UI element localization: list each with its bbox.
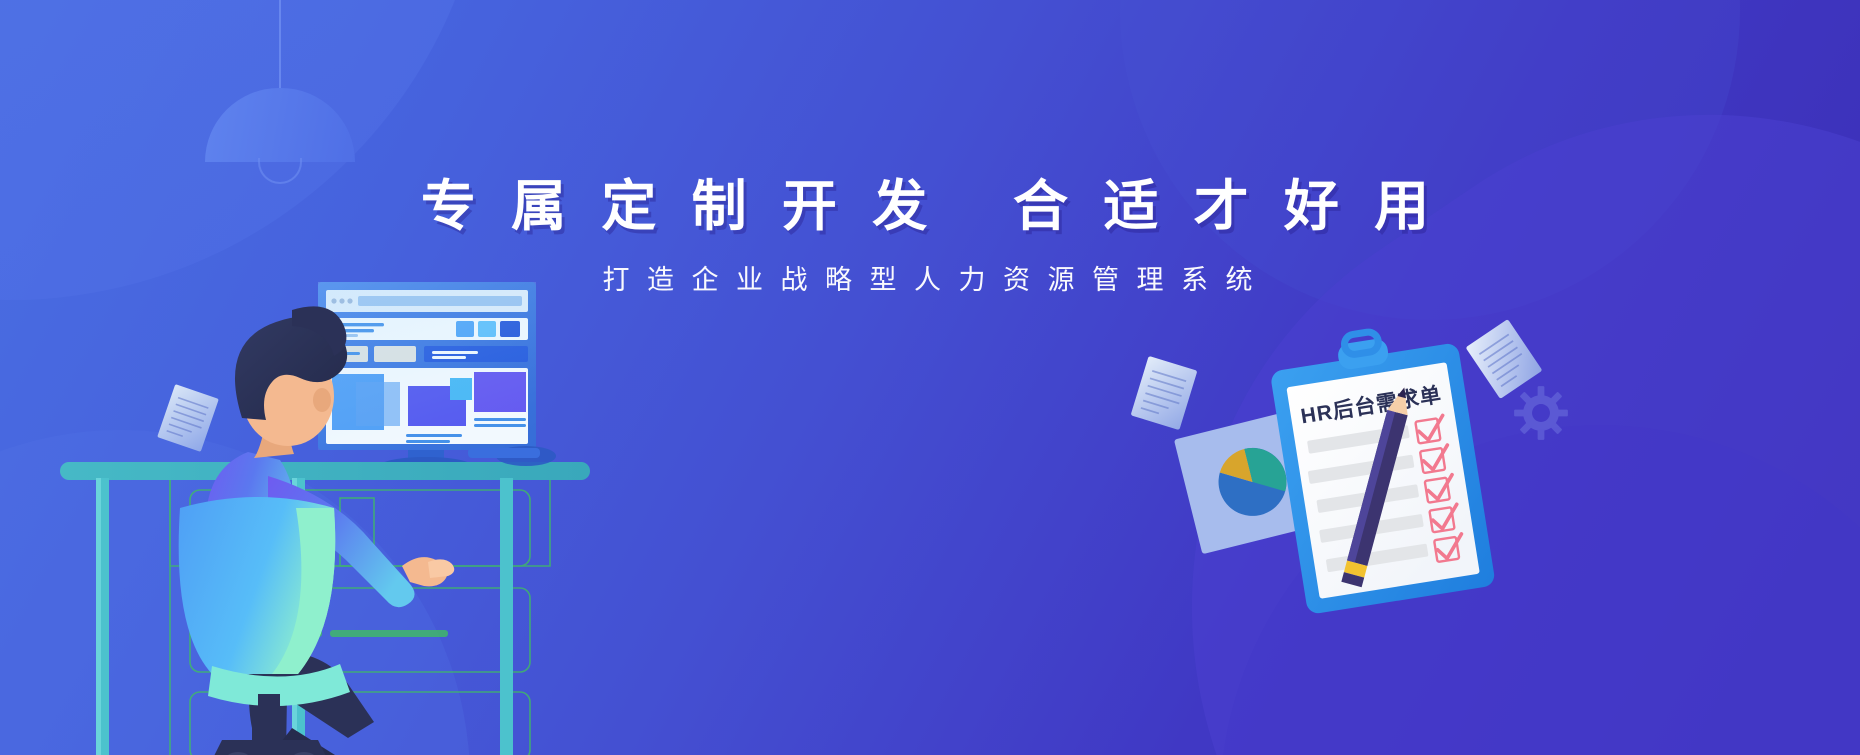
document-left-icon xyxy=(157,384,219,452)
office-desk xyxy=(60,462,590,755)
document-mid-icon xyxy=(1130,356,1198,430)
pendant-lamp-icon xyxy=(205,0,355,170)
background-blob-bottom-right xyxy=(1020,0,1860,755)
pie-chart-card xyxy=(1174,408,1331,554)
gear-right-icon xyxy=(1513,385,1569,441)
hero-copy: 专 属 定 制 开 发 合 适 才 好 用 打 造 企 业 战 略 型 人 力 … xyxy=(0,176,1860,297)
clipboard-title: HR后台需求单 xyxy=(1299,382,1443,428)
background-blob-bottom-left xyxy=(0,430,470,755)
background-blob-corner xyxy=(1220,425,1860,755)
lamp-cord xyxy=(279,0,281,92)
page-title: 专 属 定 制 开 发 合 适 才 好 用 xyxy=(0,176,1860,238)
desktop-monitor xyxy=(318,282,536,475)
gear-large-icon xyxy=(425,295,481,351)
checkbox-group xyxy=(1415,418,1459,562)
lamp-shade xyxy=(205,88,355,162)
checkmarks xyxy=(1417,415,1465,559)
document-right-icon xyxy=(1465,319,1543,399)
pencil-icon xyxy=(1341,385,1414,587)
gear-small-icon xyxy=(483,325,517,359)
pie-chart xyxy=(1211,441,1293,523)
wireframe-decoration xyxy=(120,470,590,755)
hero-banner: 专 属 定 制 开 发 合 适 才 好 用 打 造 企 业 战 略 型 人 力 … xyxy=(0,0,1860,755)
seated-person xyxy=(202,306,454,755)
workspace-illustration xyxy=(60,270,680,755)
checklist-lines xyxy=(1303,425,1429,573)
hr-requirements-illustration: HR后台需求单 xyxy=(1180,330,1520,630)
page-subtitle: 打 造 企 业 战 略 型 人 力 资 源 管 理 系 统 xyxy=(0,258,1860,297)
clipboard: HR后台需求单 xyxy=(1266,318,1496,614)
office-chair xyxy=(179,497,350,755)
